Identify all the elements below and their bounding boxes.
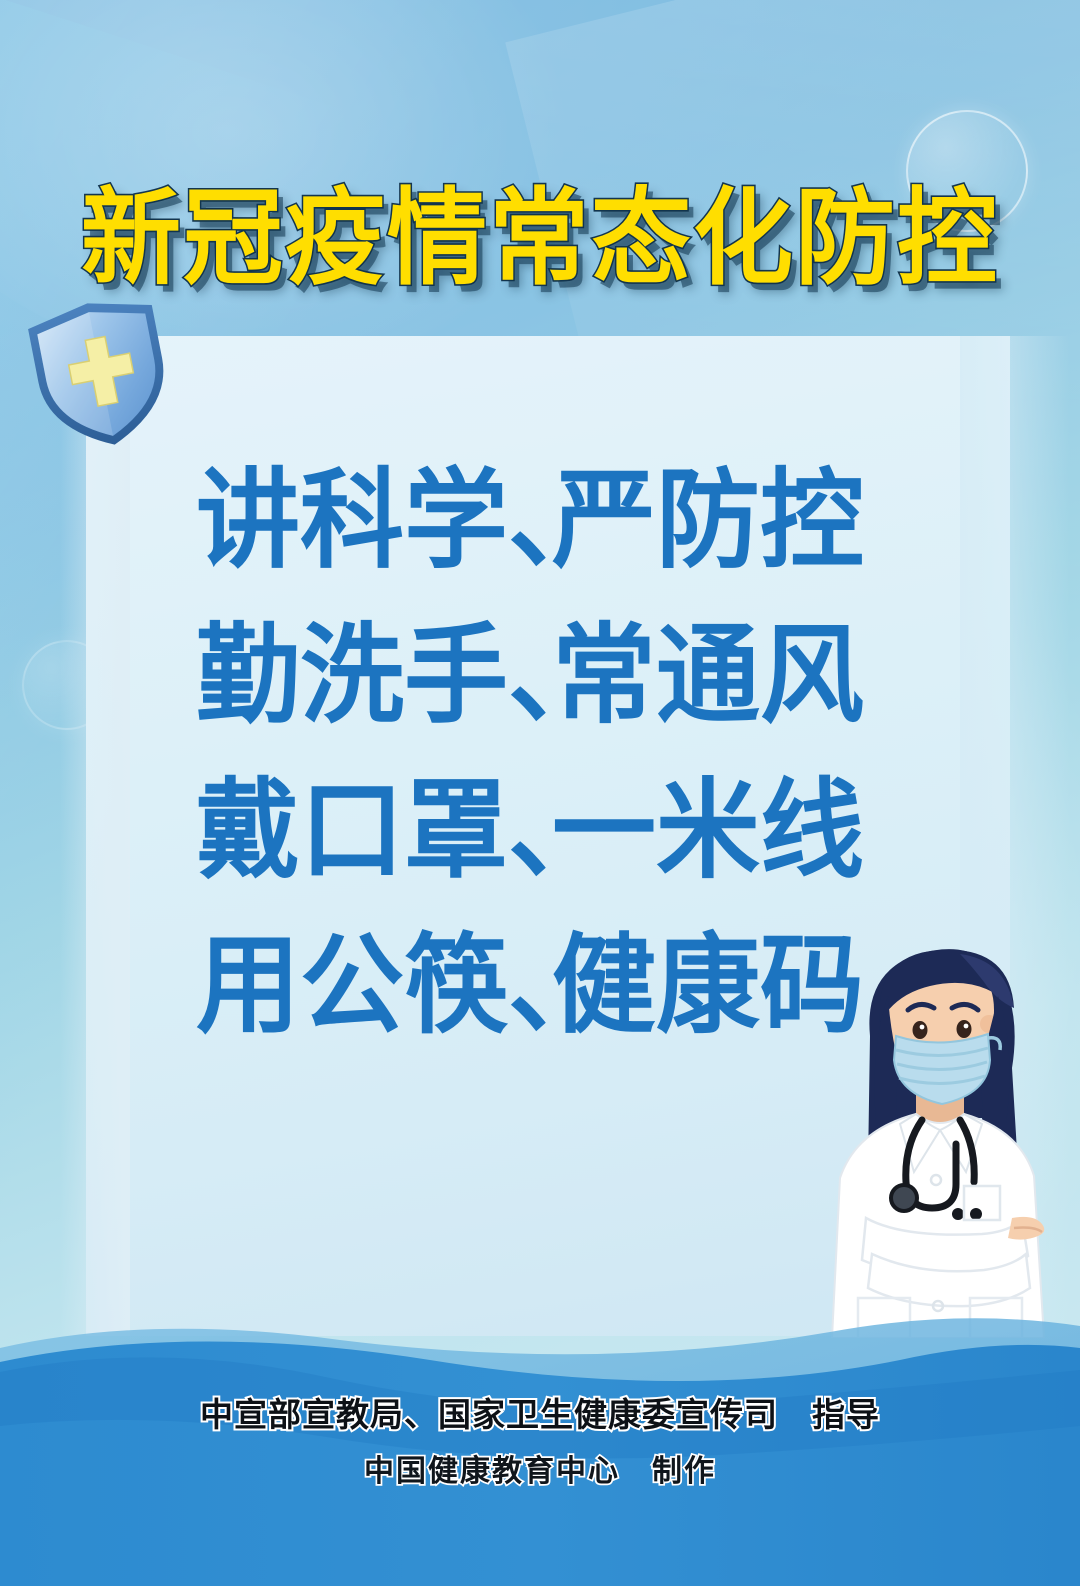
doctor-eye-highlight (920, 1025, 925, 1030)
slogan-right: 严防控 (552, 462, 864, 578)
slogan-left: 讲科学、 (196, 462, 552, 578)
slogan-line: 戴口罩、 一米线 (196, 772, 896, 933)
doctor-stethoscope-chestpiece (891, 1185, 917, 1211)
slogan-left: 勤洗手、 (196, 617, 552, 733)
credits-block: 中宣部宣教局、国家卫生健康委宣传司 指导 中国健康教育中心 制作 (0, 1388, 1080, 1490)
slogan-right: 常通风 (552, 617, 864, 733)
doctor-stethoscope-earpiece (952, 1208, 964, 1220)
slogan-list: 讲科学、 严防控 勤洗手、 常通风 戴口罩、 一米线 用公筷、 健康码 (196, 462, 896, 1082)
doctor-eye-left (913, 1021, 928, 1039)
credit-line-producer: 中国健康教育中心 制作 (0, 1446, 1080, 1490)
shield-cross-icon (17, 288, 185, 460)
slogan-line: 勤洗手、 常通风 (196, 617, 896, 778)
slogan-left: 戴口罩、 (196, 772, 552, 888)
slogan-left: 用公筷、 (196, 927, 552, 1043)
credit-line-guidance: 中宣部宣教局、国家卫生健康委宣传司 指导 (0, 1388, 1080, 1436)
page-title: 新冠疫情常态化防控 (81, 183, 999, 294)
content-panel-left-fade (60, 336, 130, 1336)
slogan-right: 一米线 (552, 772, 864, 888)
masked-female-doctor-illustration (812, 918, 1080, 1338)
poster-canvas: 新冠疫情常态化防控 新冠疫情常态化防控 讲科学、 严防控 (0, 0, 1080, 1586)
slogan-line: 讲科学、 严防控 (196, 462, 896, 623)
doctor-stethoscope-earpiece (970, 1208, 982, 1220)
slogan-line: 用公筷、 健康码 (196, 927, 896, 1088)
doctor-eye-highlight (964, 1024, 969, 1029)
doctor-eye-right (957, 1020, 972, 1038)
page-title-wrap: 新冠疫情常态化防控 (0, 186, 1080, 292)
